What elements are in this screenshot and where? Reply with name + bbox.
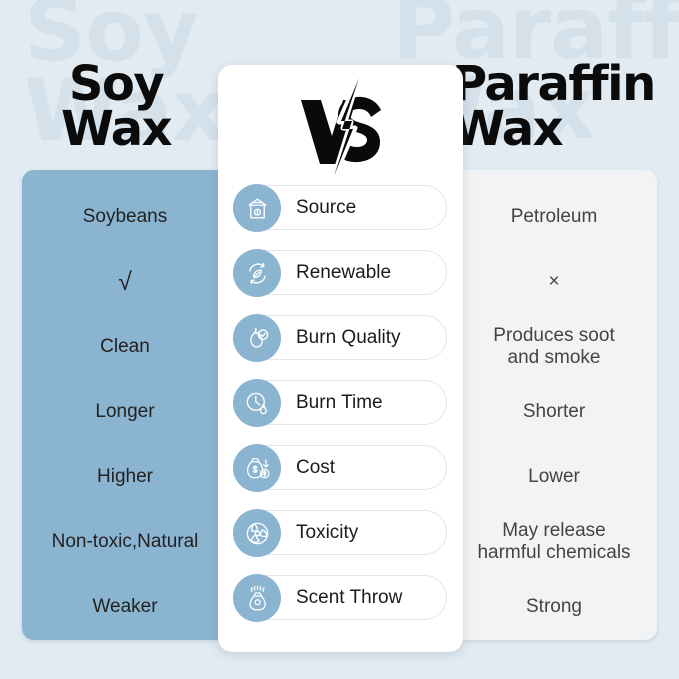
attribute-label-cost: Cost [296, 457, 335, 479]
soy-value-source: Soybeans [22, 184, 228, 249]
flame-check-icon [233, 314, 281, 362]
recycle-leaf-icon [233, 249, 281, 297]
vs-logo [218, 73, 463, 183]
attribute-row-burn-quality[interactable]: Burn Quality [218, 305, 463, 370]
attribute-label-toxicity: Toxicity [296, 522, 358, 544]
paraffin-value-burn-quality: Produces soot and smoke [451, 314, 657, 379]
paraffin-value-burn-time: Shorter [451, 379, 657, 444]
attribute-row-cost[interactable]: Cost [218, 435, 463, 500]
soy-value-burn-time: Longer [22, 379, 228, 444]
pill-burn-quality[interactable]: Burn Quality [233, 315, 447, 360]
paraffin-value-cost: Lower [451, 444, 657, 509]
pill-toxicity[interactable]: Toxicity [233, 510, 447, 555]
money-bag-arrow-down-icon [233, 444, 281, 492]
soy-value-renewable: √ [22, 249, 228, 314]
soy-value-burn-quality: Clean [22, 314, 228, 379]
soy-value-toxicity: Non-toxic,Natural [22, 509, 228, 574]
attribute-row-toxicity[interactable]: Toxicity [218, 500, 463, 565]
center-attribute-card: Source Renew [218, 65, 463, 652]
clock-flame-icon [233, 379, 281, 427]
soy-wax-values-panel: Soybeans √ Clean Longer Higher Non-toxic… [22, 170, 228, 640]
paraffin-value-scent-throw: Strong [451, 574, 657, 639]
attribute-label-renewable: Renewable [296, 262, 391, 284]
pill-burn-time[interactable]: Burn Time [233, 380, 447, 425]
jar-icon [233, 184, 281, 232]
soy-value-cost: Higher [22, 444, 228, 509]
scent-bag-icon [233, 574, 281, 622]
attribute-rows: Source Renew [218, 175, 463, 630]
soy-value-scent-throw: Weaker [22, 574, 228, 639]
attribute-label-scent-throw: Scent Throw [296, 587, 402, 609]
attribute-label-source: Source [296, 197, 356, 219]
pill-source[interactable]: Source [233, 185, 447, 230]
paraffin-wax-values-panel: Petroleum × Produces soot and smoke Shor… [451, 170, 657, 640]
comparison-infographic: Soy Wax Paraffin Wax Soy Wax Paraffin Wa… [0, 0, 679, 679]
title-paraffin-wax: Paraffin Wax [452, 62, 679, 152]
attribute-row-scent-throw[interactable]: Scent Throw [218, 565, 463, 630]
pill-scent-throw[interactable]: Scent Throw [233, 575, 447, 620]
attribute-row-burn-time[interactable]: Burn Time [218, 370, 463, 435]
title-soy-wax: Soy Wax [0, 62, 232, 152]
attribute-row-source[interactable]: Source [218, 175, 463, 240]
attribute-label-burn-quality: Burn Quality [296, 327, 401, 349]
attribute-label-burn-time: Burn Time [296, 392, 383, 414]
pill-cost[interactable]: Cost [233, 445, 447, 490]
attribute-row-renewable[interactable]: Renewable [218, 240, 463, 305]
pill-renewable[interactable]: Renewable [233, 250, 447, 295]
paraffin-value-renewable: × [451, 249, 657, 314]
radiation-icon [233, 509, 281, 557]
paraffin-value-source: Petroleum [451, 184, 657, 249]
paraffin-value-toxicity: May release harmful chemicals [451, 509, 657, 574]
